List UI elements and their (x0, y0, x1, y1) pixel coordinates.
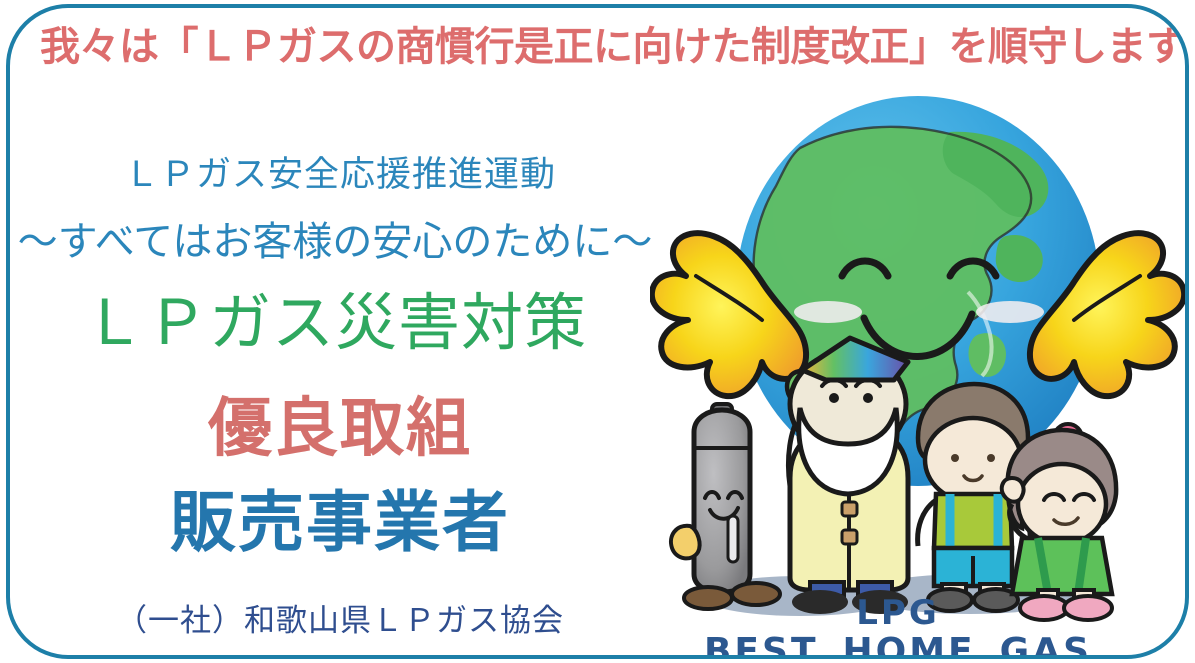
poster-root: ＬＰガス安全応援推進運動 〜すべてはお客様の安心のために〜 ＬＰガス災害対策 優… (0, 0, 1195, 663)
girl-mascot-icon (1002, 424, 1116, 620)
brand-lpg-label: LPG (678, 596, 1118, 630)
campaign-subtitle-line2: 〜すべてはお客様の安心のために〜 (10, 220, 660, 264)
brand-best-label: BEST (704, 631, 819, 659)
text-column: ＬＰガス安全応援推進運動 〜すべてはお客様の安心のために〜 ＬＰガス災害対策 優… (10, 8, 682, 655)
poster-plaque: ＬＰガス安全応援推進運動 〜すべてはお客様の安心のために〜 ＬＰガス災害対策 優… (6, 4, 1189, 659)
association-name: （一社）和歌山県ＬＰガス協会 (10, 604, 670, 638)
compliance-headline: 我々は「ＬＰガスの商慣行是正に向けた制度改正」を順守します！！ (40, 26, 1150, 68)
award-label-sales-operator: 販売事業者 (10, 488, 670, 557)
brand-gas-label: GAS (1000, 631, 1092, 659)
award-label-excellent-initiative: 優良取組 (10, 396, 670, 463)
campaign-subtitle-line1: ＬＰガス安全応援推進運動 (10, 156, 670, 195)
brand-home-label: HOME (843, 631, 976, 659)
main-title-disaster-measures: ＬＰガス災害対策 (10, 290, 660, 355)
professor-mascot-icon (787, 338, 908, 614)
mascot-illustration (650, 86, 1189, 659)
brand-tagline: BESTHOMEGAS (678, 634, 1118, 659)
brand-lockup: LPG BESTHOMEGAS (678, 596, 1118, 659)
